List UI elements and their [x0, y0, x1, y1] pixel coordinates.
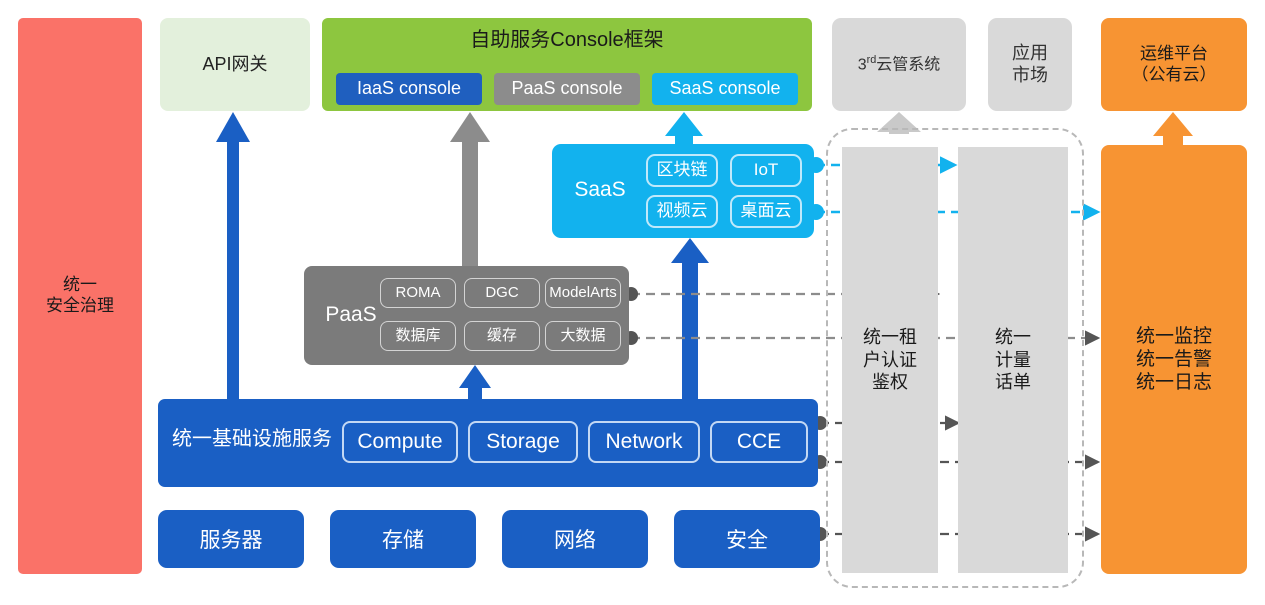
arrow-infra-to-api-gateway [216, 112, 250, 399]
arrow-infra-to-paas [459, 365, 491, 399]
arrow-infra-to-saas [671, 238, 709, 399]
saas-label: SaaS [564, 177, 636, 203]
unified-metering-label: 统一 计量 话单 [995, 326, 1031, 394]
iaas-console-chip[interactable]: IaaS console [336, 73, 482, 105]
api-gateway-label: API网关 [202, 54, 267, 76]
ops-platform-body-label: 统一监控 统一告警 统一日志 [1136, 325, 1212, 395]
infra-chip-compute[interactable]: Compute [342, 421, 458, 463]
paas-label: PaaS [312, 302, 390, 328]
ops-platform-header-label: 运维平台 （公有云） [1132, 44, 1217, 85]
unified-infrastructure-panel[interactable]: 统一基础设施服务 Compute Storage Network CCE [158, 399, 818, 487]
hardware-box-server[interactable]: 服务器 [158, 510, 304, 568]
infra-chip-network[interactable]: Network [588, 421, 700, 463]
hardware-box-network[interactable]: 网络 [502, 510, 648, 568]
paas-chip-database[interactable]: 数据库 [380, 321, 456, 351]
third-party-cloud-label: 3rd云管系统 [858, 54, 941, 75]
infra-chip-storage[interactable]: Storage [468, 421, 578, 463]
saas-chip-video-cloud[interactable]: 视频云 [646, 195, 718, 228]
saas-chip-blockchain[interactable]: 区块链 [646, 154, 718, 187]
infra-chip-cce[interactable]: CCE [710, 421, 808, 463]
paas-console-chip[interactable]: PaaS console [494, 73, 640, 105]
hardware-box-storage[interactable]: 存储 [330, 510, 476, 568]
paas-chip-roma[interactable]: ROMA [380, 278, 456, 308]
paas-chip-modelarts[interactable]: ModelArts [545, 278, 621, 308]
third-party-prefix: 3 [858, 56, 867, 73]
saas-console-chip[interactable]: SaaS console [652, 73, 798, 105]
arrow-saas-to-saas-console [665, 112, 703, 146]
third-party-suffix: 云管系统 [876, 56, 940, 73]
hardware-box-security[interactable]: 安全 [674, 510, 820, 568]
app-market-label: 应用 市场 [1012, 43, 1048, 87]
paas-chip-cache[interactable]: 缓存 [464, 321, 540, 351]
paas-panel[interactable]: PaaS ROMA DGC ModelArts 数据库 缓存 大数据 [304, 266, 629, 365]
arrow-ops-body-to-ops-header [1153, 112, 1193, 148]
unified-tenant-auth-column[interactable]: 统一租 户认证 鉴权 [842, 147, 938, 573]
console-framework-title: 自助服务Console框架 [322, 28, 812, 52]
app-market-box[interactable]: 应用 市场 [988, 18, 1072, 111]
ops-platform-body-box[interactable]: 统一监控 统一告警 统一日志 [1101, 145, 1247, 574]
security-governance-panel[interactable]: 统一 安全治理 [18, 18, 142, 574]
architecture-diagram: 统一 安全治理 API网关 自助服务Console框架 IaaS console… [0, 0, 1265, 605]
third-party-superscript: rd [867, 54, 877, 66]
api-gateway-box[interactable]: API网关 [160, 18, 310, 111]
arrow-paas-to-paas-console [450, 112, 490, 266]
unified-tenant-auth-label: 统一租 户认证 鉴权 [863, 326, 917, 394]
console-framework-panel[interactable]: 自助服务Console框架 IaaS console PaaS console … [322, 18, 812, 111]
paas-chip-bigdata[interactable]: 大数据 [545, 321, 621, 351]
third-party-cloud-management-box[interactable]: 3rd云管系统 [832, 18, 966, 111]
security-governance-label: 统一 安全治理 [46, 275, 114, 316]
unified-metering-column[interactable]: 统一 计量 话单 [958, 147, 1068, 573]
paas-chip-dgc[interactable]: DGC [464, 278, 540, 308]
saas-chip-desktop-cloud[interactable]: 桌面云 [730, 195, 802, 228]
unified-infrastructure-label: 统一基础设施服务 [172, 427, 332, 451]
saas-panel[interactable]: SaaS 区块链 IoT 视频云 桌面云 [552, 144, 814, 238]
saas-chip-iot[interactable]: IoT [730, 154, 802, 187]
ops-platform-header-box[interactable]: 运维平台 （公有云） [1101, 18, 1247, 111]
